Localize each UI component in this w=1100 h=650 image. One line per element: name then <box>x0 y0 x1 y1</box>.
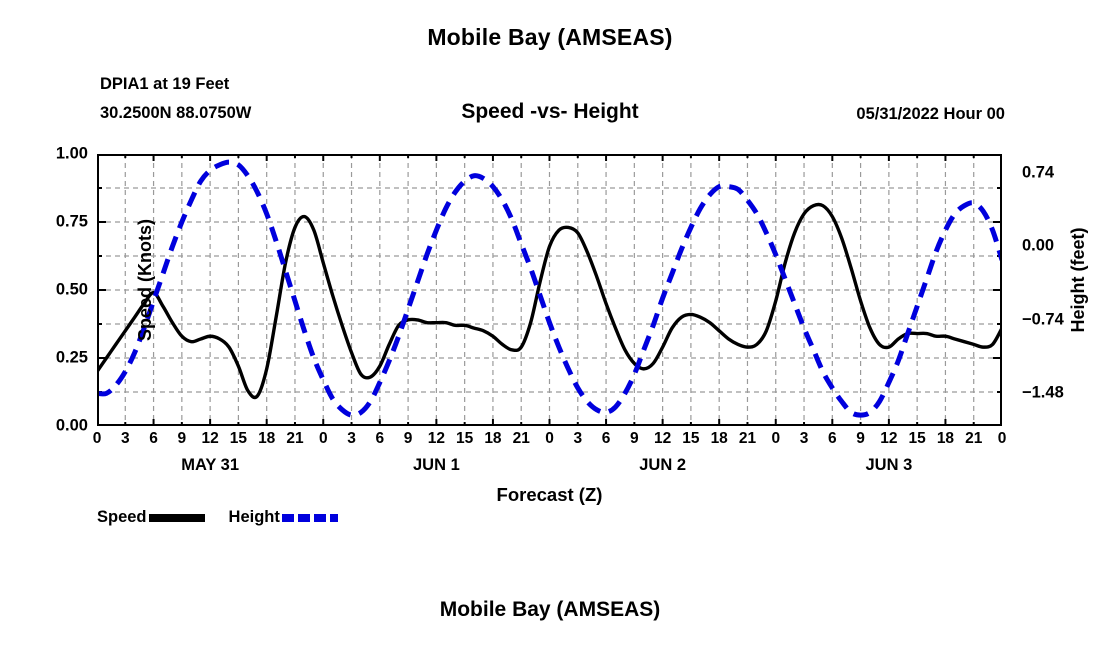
y-tick-left-0.00: 0.00 <box>0 417 97 436</box>
y-tick-left-1.00: 1.00 <box>0 145 97 164</box>
x-tick-18: 6 <box>602 430 611 448</box>
footer-title: Mobile Bay (AMSEAS) <box>0 598 1100 622</box>
y-tick-right-0.74: 0.74 <box>1002 163 1100 182</box>
legend-item-height[interactable]: Height <box>229 508 338 527</box>
x-tick-31: 21 <box>965 430 982 448</box>
day-label-1: JUN 1 <box>413 456 460 475</box>
x-tick-29: 15 <box>909 430 926 448</box>
station-name: DPIA1 at 19 Feet <box>100 75 229 94</box>
x-tick-17: 3 <box>573 430 582 448</box>
x-tick-30: 18 <box>937 430 954 448</box>
page-title: Mobile Bay (AMSEAS) <box>0 24 1100 51</box>
x-tick-20: 12 <box>654 430 671 448</box>
x-tick-14: 18 <box>484 430 501 448</box>
x-tick-25: 3 <box>800 430 809 448</box>
model-run-time: 05/31/2022 Hour 00 <box>856 105 1005 124</box>
x-tick-19: 9 <box>630 430 639 448</box>
x-tick-8: 0 <box>319 430 328 448</box>
y-axis-label-right: Height (feet) <box>1068 180 1089 380</box>
y-axis-label-left: Speed (Knots) <box>135 180 156 380</box>
y-tick-right--1.48: −1.48 <box>1002 384 1100 403</box>
y-tick-left-0.50: 0.50 <box>0 281 97 300</box>
x-tick-0: 0 <box>93 430 102 448</box>
plot-canvas <box>97 154 1002 426</box>
legend-item-speed[interactable]: Speed <box>97 508 205 527</box>
x-tick-10: 6 <box>376 430 385 448</box>
chart-legend: SpeedHeight <box>97 508 338 527</box>
x-tick-13: 15 <box>456 430 473 448</box>
day-label-2: JUN 2 <box>639 456 686 475</box>
legend-swatch-speed <box>149 514 205 522</box>
x-tick-4: 12 <box>202 430 219 448</box>
x-tick-9: 3 <box>347 430 356 448</box>
day-label-0: MAY 31 <box>181 456 239 475</box>
y-tick-left-0.25: 0.25 <box>0 349 97 368</box>
x-tick-32: 0 <box>998 430 1007 448</box>
x-tick-3: 9 <box>178 430 187 448</box>
y-tick-right--0.74: −0.74 <box>1002 310 1100 329</box>
x-tick-2: 6 <box>149 430 158 448</box>
x-tick-26: 6 <box>828 430 837 448</box>
plot-area: Speed (Knots) Height (feet) 0.000.250.50… <box>97 154 1002 426</box>
x-tick-23: 21 <box>739 430 756 448</box>
x-tick-7: 21 <box>286 430 303 448</box>
x-tick-28: 12 <box>880 430 897 448</box>
x-tick-12: 12 <box>428 430 445 448</box>
x-tick-15: 21 <box>513 430 530 448</box>
chart-page: Mobile Bay (AMSEAS) DPIA1 at 19 Feet 30.… <box>0 0 1100 650</box>
x-tick-16: 0 <box>545 430 554 448</box>
legend-label-height: Height <box>229 508 280 527</box>
x-tick-6: 18 <box>258 430 275 448</box>
legend-label-speed: Speed <box>97 508 147 527</box>
x-tick-5: 15 <box>230 430 247 448</box>
y-tick-right-0.00: 0.00 <box>1002 237 1100 256</box>
x-tick-21: 15 <box>682 430 699 448</box>
day-label-3: JUN 3 <box>865 456 912 475</box>
x-axis-label: Forecast (Z) <box>97 484 1002 506</box>
x-tick-1: 3 <box>121 430 130 448</box>
y-tick-left-0.75: 0.75 <box>0 213 97 232</box>
x-tick-27: 9 <box>856 430 865 448</box>
grid-lines <box>97 154 1002 426</box>
x-tick-24: 0 <box>771 430 780 448</box>
x-tick-22: 18 <box>711 430 728 448</box>
x-tick-11: 9 <box>404 430 413 448</box>
legend-swatch-height <box>282 514 338 522</box>
